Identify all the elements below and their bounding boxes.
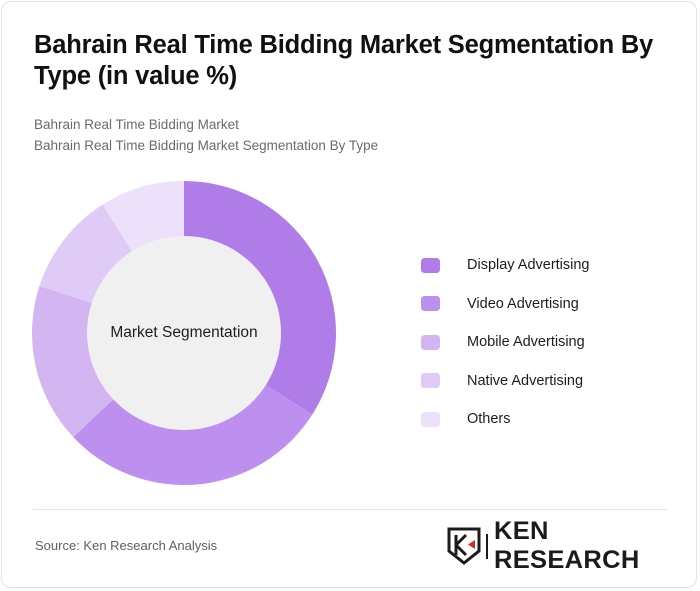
source-note: Source: Ken Research Analysis [35, 538, 217, 553]
red-triangle-accent [468, 540, 475, 549]
chart-card: Bahrain Real Time Bidding Market Segment… [1, 1, 697, 588]
legend-label: Native Advertising [467, 373, 583, 389]
legend-label: Video Advertising [467, 296, 579, 312]
legend-swatch [421, 373, 440, 388]
ken-research-logo: KEN RESEARCH [447, 526, 672, 566]
legend-label: Others [467, 411, 511, 427]
legend-item[interactable]: Native Advertising [421, 362, 671, 401]
legend-swatch [421, 258, 440, 273]
footer-divider [33, 509, 667, 510]
legend-label: Mobile Advertising [467, 334, 585, 350]
chart-legend: Display AdvertisingVideo AdvertisingMobi… [421, 246, 671, 439]
donut-center-label: Market Segmentation [33, 320, 335, 346]
legend-item[interactable]: Mobile Advertising [421, 323, 671, 362]
logo-separator [486, 534, 488, 559]
logo-wordmark: KEN RESEARCH [494, 517, 676, 575]
legend-swatch [421, 296, 440, 311]
shield-logo-icon [447, 527, 481, 565]
legend-item[interactable]: Video Advertising [421, 285, 671, 324]
legend-label: Display Advertising [467, 257, 590, 273]
legend-item[interactable]: Others [421, 400, 671, 439]
legend-swatch [421, 335, 440, 350]
legend-item[interactable]: Display Advertising [421, 246, 671, 285]
legend-swatch [421, 412, 440, 427]
